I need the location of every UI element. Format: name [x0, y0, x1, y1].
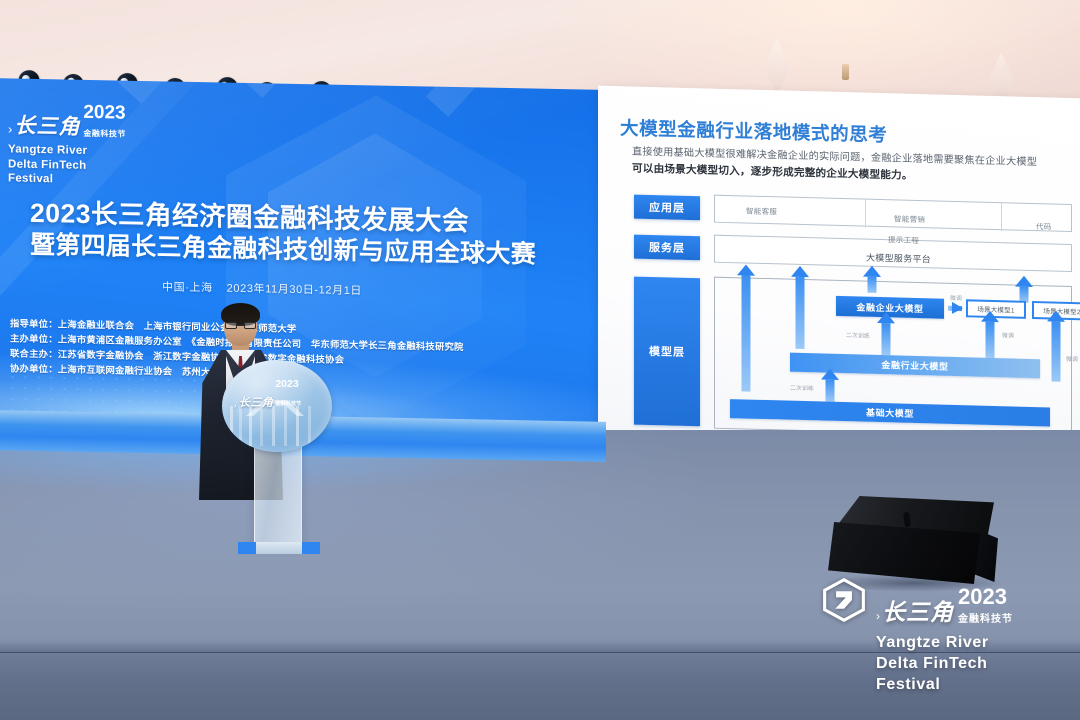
watermark-en-line1: Yangtze River	[876, 633, 1080, 654]
slide-layer-tag-model: 模型层	[634, 277, 700, 427]
logo-subtitle-cn: 金融科技节	[83, 129, 126, 139]
watermark-chinese-name: 长三角	[882, 593, 954, 627]
presentation-slide: 大模型金融行业落地模式的思考 直接使用基础大模型很难解决金融企业的实际问题，金融…	[598, 86, 1080, 469]
slide-body-text: 直接使用基础大模型很难解决金融企业的实际问题，金融企业落地需要聚焦在企业大模型 …	[632, 145, 1076, 189]
watermark-subtitle-cn: 金融科技节	[958, 614, 1013, 625]
logo-chinese-name: 长三角	[14, 110, 80, 141]
festival-mark-icon	[822, 578, 866, 622]
podium-column	[254, 436, 302, 546]
slide-cell-prompt-engineering: 提示工程	[888, 234, 919, 246]
watermark-year: 2023	[958, 584, 1007, 609]
slide-cell-code: 代码	[1036, 221, 1052, 232]
slide-annotation-retrain: 二次训练	[846, 330, 870, 340]
event-location: 中国·上海	[162, 278, 213, 295]
watermark-text: › 长三角 2023 金融科技节 Yangtze River Delta Fin…	[876, 586, 1080, 695]
watermark-en-line3: Festival	[876, 675, 1080, 696]
podium-round-panel: › 长三角 2023 金融科技节	[222, 360, 332, 452]
logo-arrow-icon: ›	[8, 119, 12, 139]
event-logo: › 长三角 2023 金融科技节 Yangtze River Delta Fin…	[8, 102, 198, 190]
speaker-podium: › 长三角 2023 金融科技节	[222, 360, 332, 560]
slide-annotation-tune: 微调	[1002, 330, 1014, 339]
event-meta: 中国·上海 2023年11月30日-12月1日	[162, 278, 362, 298]
slide-cell-smart-service: 智能客服	[746, 206, 777, 218]
cell-divider	[1001, 203, 1002, 231]
podium-logo-arrow-icon: ›	[234, 403, 237, 410]
podium-logo-subtitle: 金融科技节	[275, 401, 301, 407]
event-title-block: 2023长三角经济圈金融科技发展大会 暨第四届长三角金融科技创新与应用全球大赛	[30, 197, 550, 271]
slide-layer-tag-service: 服务层	[634, 235, 700, 261]
conference-stage-photo: › 长三角 2023 金融科技节 Yangtze River Delta Fin…	[0, 0, 1080, 720]
podium-logo: › 长三角 2023 金融科技节	[234, 374, 322, 410]
podium-base-accent-right	[302, 542, 320, 554]
presentation-screen: 大模型金融行业落地模式的思考 直接使用基础大模型很难解决金融企业的实际问题，金融…	[598, 86, 1080, 469]
podium-logo-chinese-name: 长三角	[239, 394, 274, 410]
corner-watermark: › 长三角 2023 金融科技节 Yangtze River Delta Fin…	[822, 578, 1080, 713]
podium-base-accent-left	[238, 542, 256, 554]
slide-annotation-retrain: 二次训练	[790, 383, 814, 393]
logo-year: 2023	[83, 102, 125, 124]
podium-logo-year: 2023	[275, 378, 298, 390]
slide-layer-tag-application: 应用层	[634, 195, 700, 221]
speaker-eyeglasses	[225, 322, 256, 329]
watermark-arrow-icon: ›	[876, 605, 880, 627]
slide-cell-smart-marketing: 智能营销	[894, 213, 925, 225]
slide-title: 大模型金融行业落地模式的思考	[620, 114, 887, 147]
cell-divider	[865, 200, 866, 228]
watermark-en-line2: Delta FinTech	[876, 654, 1080, 675]
logo-en-line3: Festival	[8, 172, 198, 190]
slide-annotation-tune: 微调	[950, 293, 962, 302]
event-dates: 2023年11月30日-12月1日	[227, 280, 362, 299]
slide-annotation-tune: 微调	[1066, 354, 1078, 363]
slide-cell-model-service-platform: 大模型服务平台	[866, 251, 931, 266]
podium-skyline-graphic	[230, 406, 324, 446]
flow-arrow-right	[952, 302, 963, 314]
stage-monitor-speaker	[828, 496, 1000, 590]
